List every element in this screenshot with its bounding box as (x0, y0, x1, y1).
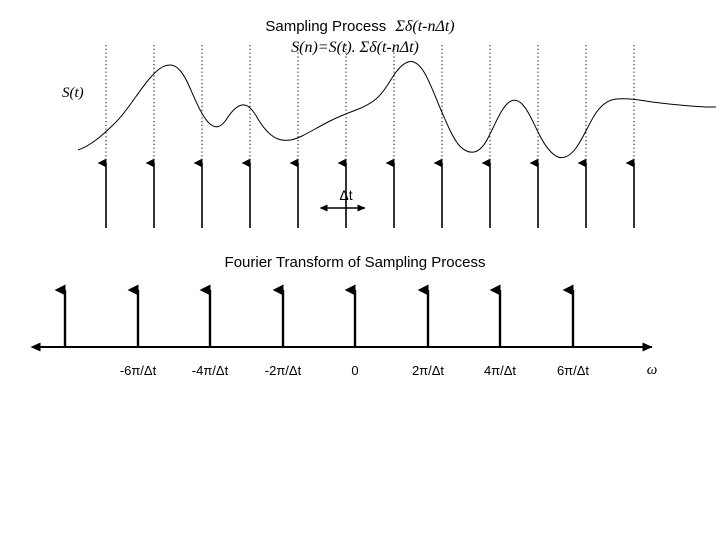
bottom-panel: Fourier Transform of Sampling Process -6… (40, 254, 657, 378)
sampling-impulses (106, 163, 634, 228)
signal-label: S(t) (62, 85, 84, 101)
tick-label: -6π/Δt (120, 363, 157, 378)
bottom-panel-title: Fourier Transform of Sampling Process (225, 254, 486, 271)
top-panel-title-plain: Sampling Process (265, 18, 386, 35)
top-panel: Sampling Process Σδ(t-nΔt) S(n)=S(t). Σδ… (62, 18, 716, 228)
tick-label: 4π/Δt (484, 363, 516, 378)
frequency-tick-labels: -6π/Δt -4π/Δt -2π/Δt 0 2π/Δt 4π/Δt 6π/Δt (120, 363, 590, 378)
signal-waveform (78, 61, 716, 157)
tick-label: 2π/Δt (412, 363, 444, 378)
top-panel-title-line1: Sampling Process Σδ(t-nΔt) (265, 18, 454, 35)
omega-axis-label: ω (647, 362, 658, 378)
top-panel-title-line2: S(n)=S(t). Σδ(t-nΔt) (291, 39, 419, 56)
tick-label-zero: 0 (351, 363, 358, 378)
tick-label: 6π/Δt (557, 363, 589, 378)
top-panel-title-math: Σδ(t-nΔt) (394, 18, 454, 35)
sampling-process-figure: Sampling Process Σδ(t-nΔt) S(n)=S(t). Σδ… (0, 0, 720, 540)
tick-label: -2π/Δt (265, 363, 302, 378)
sampling-guide-lines (106, 45, 634, 228)
delta-t-label: Δt (339, 187, 352, 203)
fourier-impulses (65, 290, 573, 347)
tick-label: -4π/Δt (192, 363, 229, 378)
figure-canvas: Sampling Process Σδ(t-nΔt) S(n)=S(t). Σδ… (0, 0, 720, 540)
